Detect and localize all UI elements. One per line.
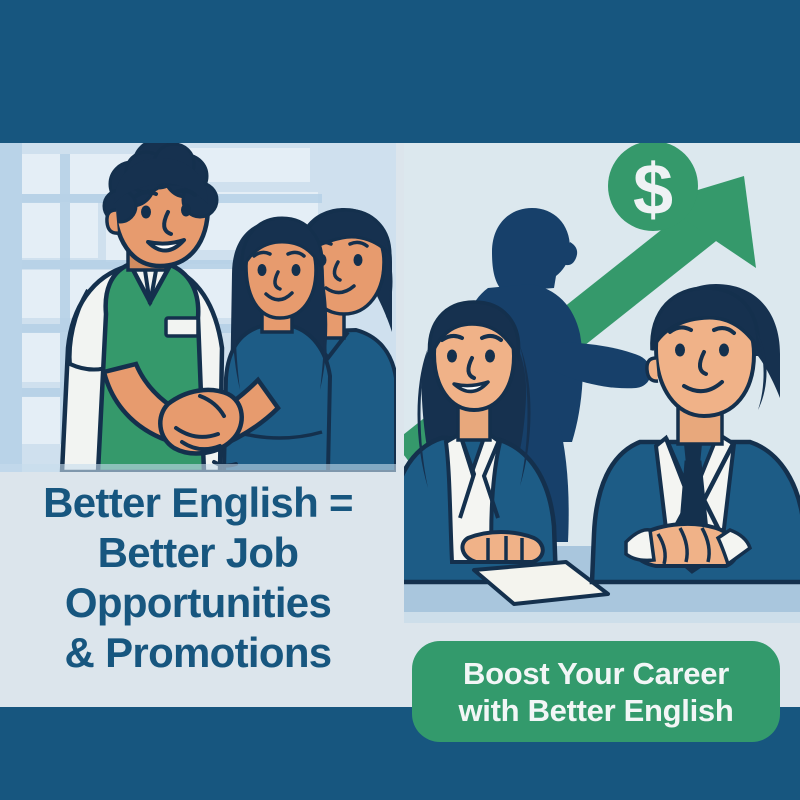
cta-label: Boost Your Career with Better English: [458, 655, 733, 729]
svg-text:$: $: [633, 150, 673, 230]
poster-canvas: Customer Service and Retail English: [0, 0, 800, 800]
illustration-right-panel: $: [404, 142, 800, 623]
illustration-left-panel: [0, 142, 396, 472]
name-badge: [166, 318, 198, 336]
headline-text: Better English = Better Job Opportunitie…: [0, 478, 396, 678]
floor-shade: [0, 464, 396, 472]
retail-handshake-illustration: [0, 142, 396, 472]
dollar-coin-icon: $: [608, 142, 698, 231]
headline-block: Better English = Better Job Opportunitie…: [0, 478, 396, 678]
header-band: [0, 0, 800, 143]
career-growth-illustration: $: [404, 142, 800, 623]
desk-edge: [404, 612, 800, 623]
cta-button[interactable]: Boost Your Career with Better English: [412, 641, 780, 742]
eye-right: [354, 254, 363, 266]
store-wall-edge: [0, 142, 22, 472]
